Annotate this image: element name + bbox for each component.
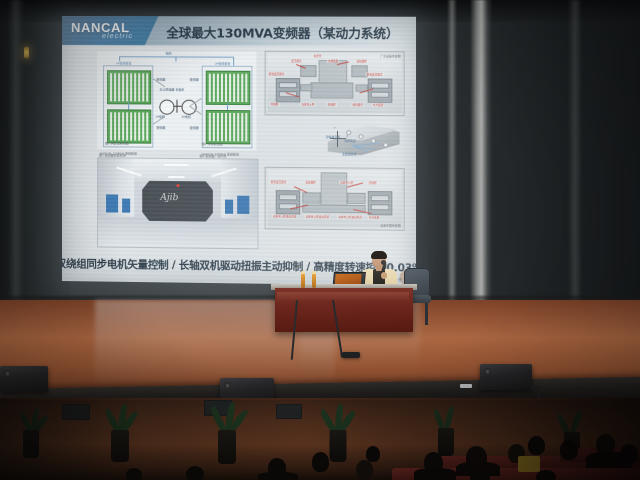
stage-curtain-right [470, 0, 492, 340]
layout-label-3: 变频器柜 [355, 59, 368, 63]
group-left-label: 1#变频装置 [114, 61, 133, 65]
layout-label-5: 整流变压器室 [366, 72, 384, 76]
layout-box-a [302, 192, 320, 203]
photo-backdrop-logo: Ajib [160, 193, 178, 203]
bus-line [119, 56, 234, 57]
converter-group-right: 2#变频装置 [202, 66, 253, 149]
cabinet-grid [209, 74, 248, 102]
layout-rail-left [300, 84, 312, 91]
cabinet-link-left [128, 102, 129, 109]
slide-title: 全球最大130MVA变频器（某动力系统） [166, 22, 398, 42]
bottle-cap [312, 271, 316, 274]
layout-cabinet-left [276, 78, 300, 102]
water-bottle [301, 274, 305, 288]
layout-label-6: 控制柜 [270, 102, 280, 106]
axis-indicator: X Y [330, 131, 346, 147]
slide-header: NANCAL electric 全球最大130MVA变频器（某动力系统） [62, 16, 416, 46]
stage-monitor-right [480, 364, 532, 390]
layout-label-0: 主控室 [312, 54, 322, 58]
cabinet-slot [279, 194, 297, 200]
transformer-cabinet-3 [206, 71, 251, 105]
layout-cabinet-left [276, 190, 300, 214]
logo-tagline-text: electric [102, 33, 133, 40]
auditorium-photo-scene: NANCAL electric 全球最大130MVA变频器（某动力系统） 电网 … [0, 0, 640, 480]
converter-group-left: 1#变频装置 [103, 65, 153, 148]
presenter-hair [371, 251, 387, 259]
diagram-caption-left: 图1 供配电系统图 [105, 141, 129, 145]
layout-label-4: 整流变压器室 [268, 72, 286, 76]
cabinet-grid [110, 73, 148, 101]
branch-label-3: 变频器 [190, 78, 199, 82]
equipment-cabinet-blue [225, 200, 233, 214]
cabinet-grid [209, 113, 248, 141]
branch-label-1: 变频器 [156, 77, 165, 81]
layout-label-10: 水冷装置 [372, 103, 385, 107]
transformer-cabinet-1 [107, 70, 151, 104]
ceiling-light [168, 176, 184, 178]
bus-label: 电网 [165, 51, 171, 55]
cable-junction-box [342, 352, 360, 358]
house-darkening-overlay [0, 398, 640, 480]
iso-label-2: 变频器柜体 [342, 152, 356, 156]
monitor-driver [224, 382, 231, 389]
monitor-cable-plate [460, 384, 472, 388]
bus-drop-center [175, 56, 176, 61]
iso-port [358, 134, 363, 139]
layout-label-5: 功率单元柜进出风道 [304, 215, 330, 219]
equipment-cabinet-blue [106, 194, 118, 212]
layout-top-corner-label: 厂房设备布置图 [380, 54, 400, 58]
equipment-hall-photo: Ajib [97, 157, 258, 249]
wall-lamp [24, 46, 29, 59]
cabinet-slot [371, 92, 389, 98]
cabinet-grid [110, 112, 148, 140]
microphone-head [381, 260, 386, 265]
monitor-driver [484, 368, 491, 375]
cabinet-slot [279, 82, 297, 88]
diagram-caption-right: 图2 传动系统图 [202, 142, 223, 146]
equipment-cabinet-blue [237, 196, 249, 214]
layout-label-2: 冷却装置 [327, 59, 340, 63]
shaft-label: 主从联轴器 长轴系 [159, 88, 184, 92]
group-right-label: 2#变频装置 [213, 62, 233, 66]
cabinet-slot [371, 83, 389, 89]
stage-monitor-left [0, 366, 48, 392]
layout-label-6: 功率单元柜进出风道 [337, 215, 363, 219]
layout-label-1: 变压器室 [290, 59, 303, 63]
layout-label-4: 功率单元柜进出风道 [272, 214, 298, 218]
ceiling-light [164, 164, 188, 166]
single-line-diagram: 电网 1#变频装置 2#变频装置 [97, 51, 256, 150]
motor-left [159, 100, 174, 115]
slide-body: 电网 1#变频装置 2#变频装置 [67, 47, 411, 251]
bottle-cap [301, 271, 305, 274]
monitor-driver [4, 370, 11, 377]
layout-label-7: 水冷装置 [368, 215, 381, 219]
isometric-render: 功率单元柜 冷却风道 变频器柜体 X Y [328, 119, 402, 164]
cabinet-slot [371, 204, 389, 210]
transformer-cabinet-2 [107, 109, 151, 143]
branch-label-4: 变频器 [190, 126, 199, 130]
axis-label-y: Y [334, 127, 336, 130]
photo-caption-left: 图3 变频器安装现场 [99, 153, 126, 157]
layout-bottom-corner-label: 设备平面布置图 [380, 223, 400, 227]
layout-cabinet-right [368, 191, 393, 216]
presenter-hand [381, 272, 387, 279]
coupling-mark [176, 100, 177, 113]
branch-label-2: 变频器 [156, 126, 165, 130]
motor-left-label: 1#电机 [155, 115, 164, 119]
layout-label-7: 功率单元柜 [300, 102, 315, 106]
layout-label-3: 控制柜 [368, 181, 378, 185]
photo-indicator-light [176, 184, 179, 187]
photo-caption-right: 图4 变频器厂房内景 [200, 154, 227, 158]
mic-stand-head [530, 386, 540, 389]
transformer-cabinet-4 [206, 110, 251, 145]
layout-box-c [310, 82, 353, 98]
iso-port [383, 142, 388, 147]
water-bottle [312, 274, 316, 288]
projection-screen: NANCAL electric 全球最大130MVA变频器（某动力系统） 电网 … [62, 16, 416, 286]
equipment-layout-bottom: 整流变压器室 变频器柜 功率单元柜 控制柜 功率单元柜进出风道 功率单元柜进出风… [265, 167, 405, 231]
layout-box-b [347, 193, 365, 204]
chair-leg [425, 303, 428, 325]
layout-label-9: 电抗器室 [351, 103, 364, 107]
axis-label-x: X [346, 135, 348, 138]
stage-curtain-right-outer [447, 0, 457, 345]
layout-label-1: 变频器柜 [304, 180, 317, 184]
slide-surface: NANCAL electric 全球最大130MVA变频器（某动力系统） 电网 … [62, 16, 416, 286]
cabinet-slot [371, 195, 389, 201]
layout-label-8: 配电柜 [327, 103, 337, 107]
equipment-cabinet-blue [122, 199, 130, 213]
cabinet-link-right [227, 103, 228, 110]
layout-cabinet-right [368, 78, 393, 102]
layout-label-0: 整流变压器室 [270, 180, 288, 184]
equipment-layout-top: 主控室 变压器室 冷却装置 变频器柜 整流变压器室 整流变压器室 控制柜 功率单… [265, 51, 405, 116]
motor-right-label: 2#电机 [182, 115, 191, 119]
